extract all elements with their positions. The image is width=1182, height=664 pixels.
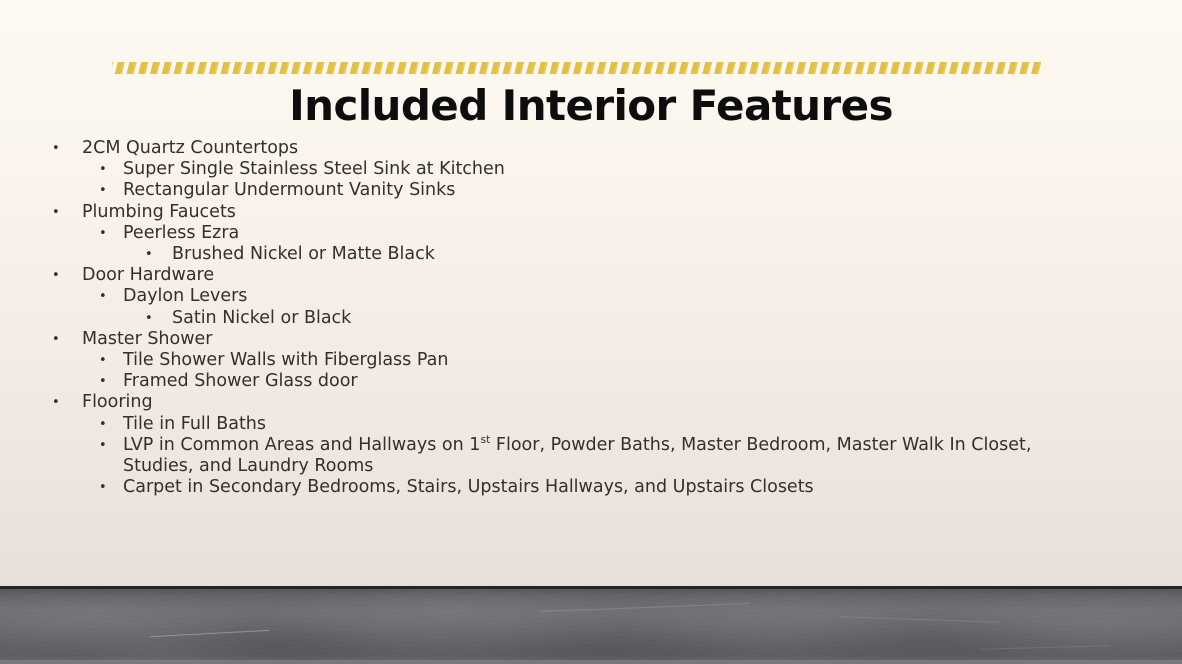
list-item-label: Master Shower: [82, 329, 1092, 350]
list-item: •Brushed Nickel or Matte Black: [40, 244, 1140, 265]
bullet-dot-icon: •: [99, 223, 123, 244]
bullet-dot-icon: •: [99, 414, 123, 435]
list-item-label: Satin Nickel or Black: [172, 308, 1092, 329]
bullet-dot-icon: •: [99, 286, 123, 307]
bullet-dot-icon: •: [99, 477, 123, 498]
list-item: •LVP in Common Areas and Hallways on 1st…: [40, 435, 1140, 477]
list-item-label: Rectangular Undermount Vanity Sinks: [123, 180, 1091, 201]
stone-bottom-edge: [0, 660, 1182, 664]
bullet-dot-icon: •: [99, 435, 123, 456]
bullet-dot-icon: •: [145, 308, 170, 329]
list-item-label: Flooring: [82, 392, 1092, 413]
bullet-dot-icon: •: [99, 159, 123, 180]
list-item: •Tile in Full Baths: [40, 414, 1140, 435]
stone-texture-band: [0, 586, 1182, 664]
list-item: •Super Single Stainless Steel Sink at Ki…: [40, 159, 1140, 180]
list-item: •Plumbing Faucets: [40, 202, 1140, 223]
bullet-list: •2CM Quartz Countertops•Super Single Sta…: [40, 138, 1140, 498]
list-item-label: Plumbing Faucets: [82, 202, 1092, 223]
list-item: •Rectangular Undermount Vanity Sinks: [40, 180, 1140, 201]
bullet-dot-icon: •: [52, 138, 79, 159]
list-item-label: LVP in Common Areas and Hallways on 1st …: [123, 435, 1091, 477]
list-item: •Peerless Ezra: [40, 223, 1140, 244]
ordinal-suffix: st: [480, 433, 490, 446]
bullet-dot-icon: •: [99, 371, 123, 392]
list-item-label: Brushed Nickel or Matte Black: [172, 244, 1092, 265]
list-item: •Satin Nickel or Black: [40, 308, 1140, 329]
list-item: •Carpet in Secondary Bedrooms, Stairs, U…: [40, 477, 1140, 498]
list-item: •Daylon Levers: [40, 286, 1140, 307]
bullet-dot-icon: •: [145, 244, 170, 265]
list-item-label: Super Single Stainless Steel Sink at Kit…: [123, 159, 1091, 180]
list-item: •Door Hardware: [40, 265, 1140, 286]
list-item-label: Daylon Levers: [123, 286, 1091, 307]
list-item-label: Tile in Full Baths: [123, 414, 1091, 435]
list-item: •Framed Shower Glass door: [40, 371, 1140, 392]
list-item: •Flooring: [40, 392, 1140, 413]
bullet-dot-icon: •: [52, 329, 79, 350]
page-title: Included Interior Features: [0, 82, 1182, 130]
stone-grain-layer: [0, 589, 1182, 664]
list-item: •Tile Shower Walls with Fiberglass Pan: [40, 350, 1140, 371]
presentation-slide: Included Interior Features •2CM Quartz C…: [0, 0, 1182, 664]
bullet-dot-icon: •: [52, 202, 79, 223]
list-item: •Master Shower: [40, 329, 1140, 350]
list-item-label: Peerless Ezra: [123, 223, 1091, 244]
bullet-dot-icon: •: [52, 392, 79, 413]
list-item-label: Tile Shower Walls with Fiberglass Pan: [123, 350, 1091, 371]
accent-stripes: [112, 62, 1041, 74]
bullet-dot-icon: •: [99, 350, 123, 371]
bullet-dot-icon: •: [99, 180, 123, 201]
decorative-dashed-accent-bar: [112, 62, 1041, 74]
bullet-dot-icon: •: [52, 265, 79, 286]
list-item-label: Carpet in Secondary Bedrooms, Stairs, Up…: [123, 477, 1091, 498]
list-item-label: Framed Shower Glass door: [123, 371, 1091, 392]
list-item: •2CM Quartz Countertops: [40, 138, 1140, 159]
list-item-label: 2CM Quartz Countertops: [82, 138, 1092, 159]
list-item-label: Door Hardware: [82, 265, 1092, 286]
